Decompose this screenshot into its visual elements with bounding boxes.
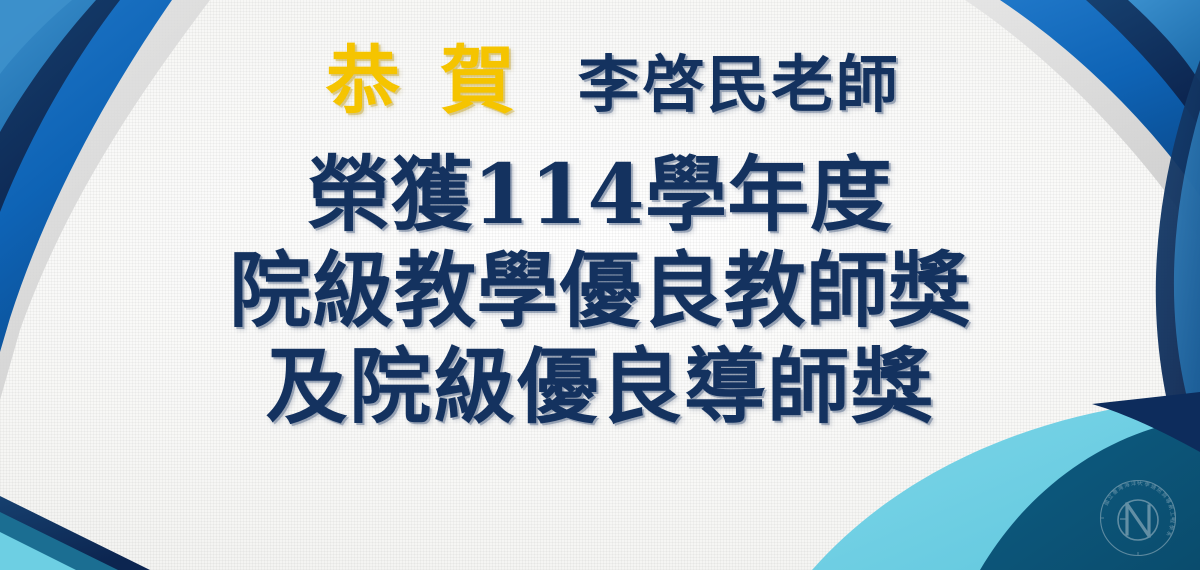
award-line-1: 榮獲114學年度 — [308, 154, 892, 250]
award-line-2: 院級教學優良教師獎 — [229, 250, 971, 346]
award-mentor-label: 及院級優良導師獎 — [265, 346, 934, 428]
congrats-label: 恭 賀 — [326, 44, 522, 118]
award-line-3: 及院級優良導師獎 — [265, 346, 934, 442]
headline-row: 恭 賀 李啓民老師 — [300, 44, 900, 118]
award-teaching-label: 院級教學優良教師獎 — [229, 250, 971, 332]
award-year-label: 榮獲114學年度 — [308, 154, 892, 236]
congratulation-banner: 恭 賀 李啓民老師 榮獲114學年度 院級教學優良教師獎 及院級優良導師獎 — [0, 0, 1200, 570]
banner-text-content: 恭 賀 李啓民老師 榮獲114學年度 院級教學優良教師獎 及院級優良導師獎 — [0, 0, 1200, 570]
honoree-name: 李啓民老師 — [578, 54, 900, 116]
